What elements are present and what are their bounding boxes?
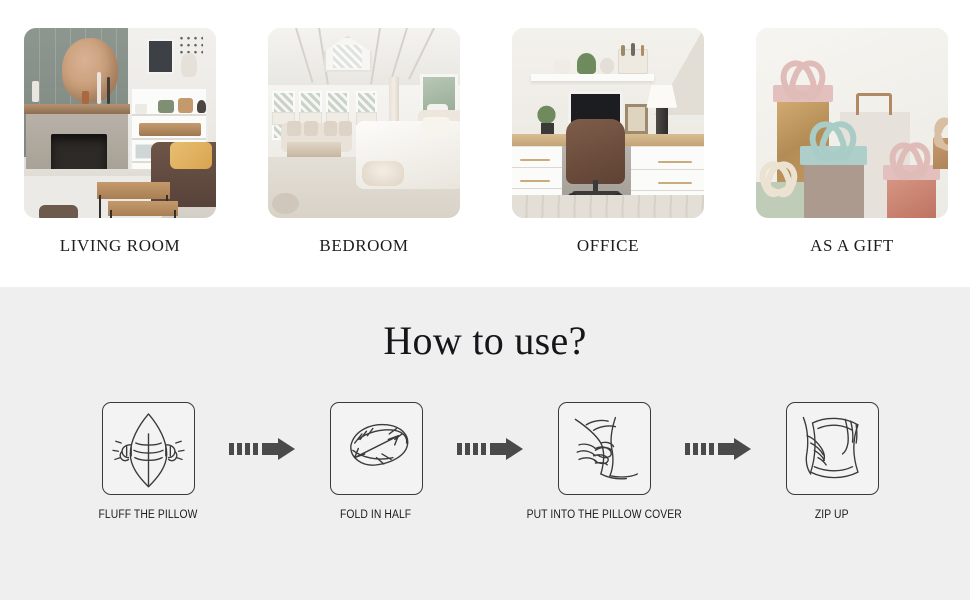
step-label: ZIP UP [815, 509, 849, 521]
step-label: PUT INTO THE PILLOW COVER [526, 509, 681, 521]
step-fold-in-half[interactable]: FOLD IN HALF [301, 402, 451, 521]
usecase-label: BEDROOM [319, 236, 408, 256]
usecase-image-living-room [24, 28, 216, 218]
step-icon-box [102, 402, 195, 495]
step-put-into-the-pillow-cover[interactable]: PUT INTO THE PILLOW COVER [529, 402, 679, 521]
usecase-bedroom[interactable]: BEDROOM [268, 28, 460, 256]
dashed-arrow-right-icon-3 [679, 402, 757, 495]
usecase-image-office [512, 28, 704, 218]
zip-pillow-icon [787, 403, 878, 494]
use-cases-section: LIVING ROOM [0, 0, 970, 287]
usecase-image-gift [756, 28, 948, 218]
gift-bow-pink [781, 60, 825, 87]
gift-bow-mint [810, 121, 856, 148]
usecase-gift[interactable]: AS A GIFT [756, 28, 948, 256]
step-icon-box [330, 402, 423, 495]
usecase-image-bedroom [268, 28, 460, 218]
usecase-office[interactable]: OFFICE [512, 28, 704, 256]
step-label: FLUFF THE PILLOW [98, 509, 197, 521]
gift-bow-pink-small [890, 142, 930, 167]
usecase-label: AS A GIFT [810, 236, 894, 256]
how-to-use-steps: FLUFF THE PILLOW [0, 402, 970, 521]
how-to-use-section: How to use? [0, 287, 970, 600]
fluff-pillow-icon [103, 403, 194, 494]
usecase-label: OFFICE [577, 236, 639, 256]
insert-pillow-icon [559, 403, 650, 494]
step-icon-box [786, 402, 879, 495]
gift-box-rose [887, 178, 937, 218]
fold-pillow-icon [331, 403, 422, 494]
how-to-use-title: How to use? [0, 317, 970, 364]
gift-bow-cream [760, 161, 796, 184]
dashed-arrow-right-icon-2 [451, 402, 529, 495]
step-zip-up[interactable]: ZIP UP [757, 402, 907, 521]
gift-box-taupe [804, 161, 864, 218]
usecase-living-room[interactable]: LIVING ROOM [24, 28, 216, 256]
step-label: FOLD IN HALF [340, 509, 411, 521]
dashed-arrow-right-icon-1 [223, 402, 301, 495]
step-fluff-the-pillow[interactable]: FLUFF THE PILLOW [73, 402, 223, 521]
gift-bow-tan [935, 117, 948, 138]
usecase-label: LIVING ROOM [60, 236, 180, 256]
product-infographic: LIVING ROOM [0, 0, 970, 600]
step-icon-box [558, 402, 651, 495]
use-cases-row: LIVING ROOM [0, 0, 970, 256]
